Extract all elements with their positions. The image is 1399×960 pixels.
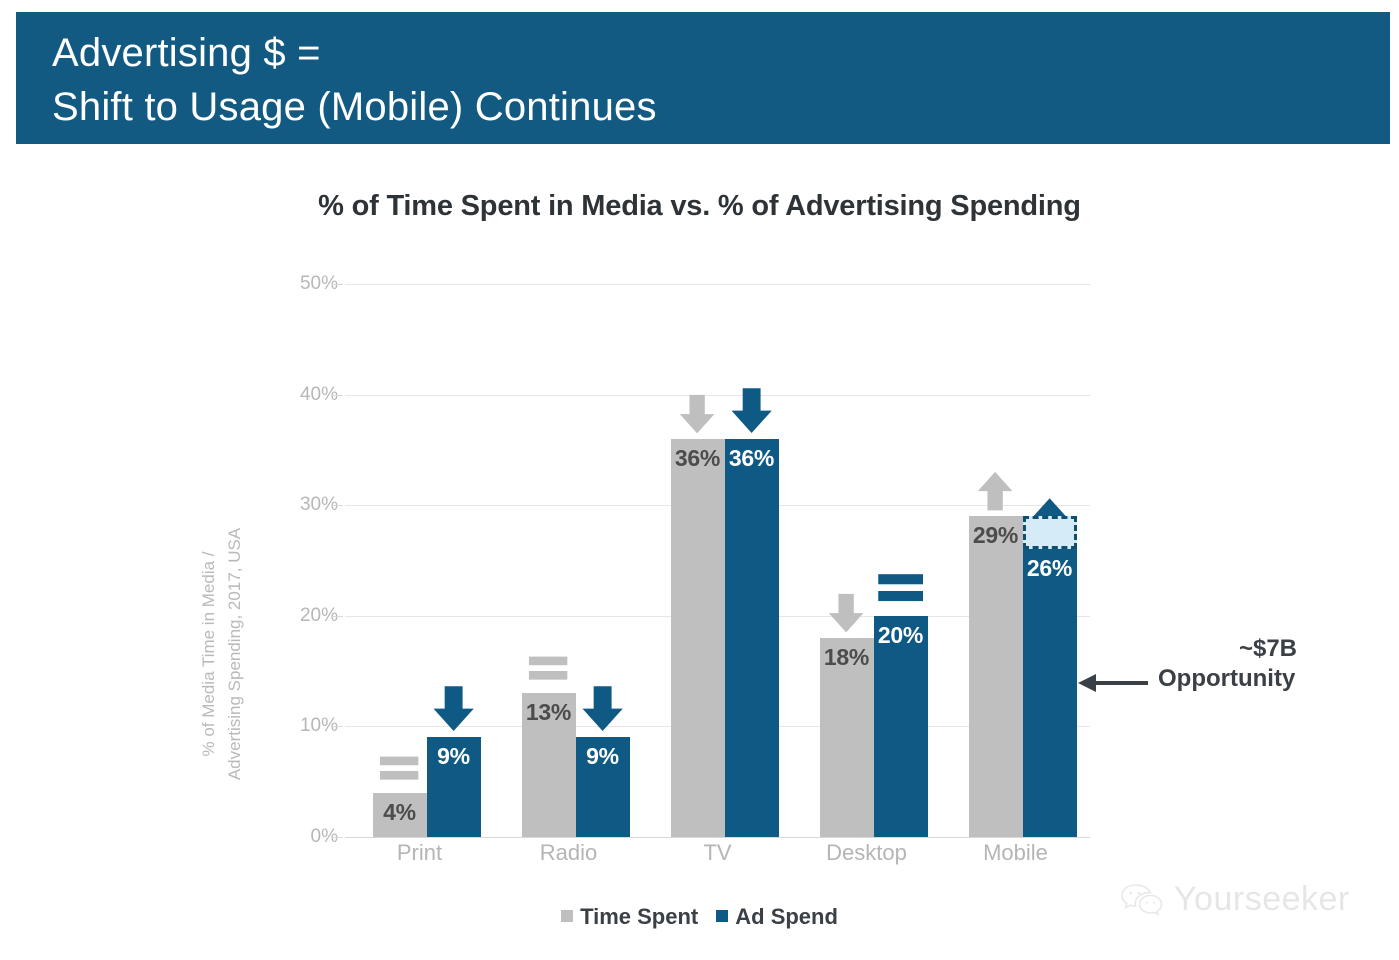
down-arrow-icon-tv-ad-spend <box>727 386 776 435</box>
plot-area: 0%10%20%30%40%50% 4%9%13%9%36%36%18%20%2… <box>345 284 1090 837</box>
wechat-icon <box>1120 882 1164 918</box>
x-axis-label-radio: Radio <box>494 840 643 866</box>
bar-mobile-ad-spend[interactable]: 26% <box>1023 549 1077 837</box>
x-axis-label-desktop: Desktop <box>792 840 941 866</box>
bar-print-time-spent[interactable]: 4% <box>373 793 427 837</box>
watermark: Yourseeker <box>1120 880 1350 919</box>
y-tick-mark-30 <box>331 505 343 506</box>
y-tick-mark-10 <box>331 726 343 727</box>
opportunity-annotation: ~$7B Opportunity <box>1148 634 1388 694</box>
bar-radio-time-spent[interactable]: 13% <box>522 693 576 837</box>
bar-value-label: 29% <box>969 522 1023 549</box>
gridline-50 <box>345 284 1090 285</box>
equals-icon-desktop-ad-spend <box>876 563 925 612</box>
x-axis-label-tv: TV <box>643 840 792 866</box>
opportunity-arrow-icon <box>1078 672 1148 694</box>
header-banner: Advertising $ = Shift to Usage (Mobile) … <box>16 12 1390 144</box>
legend-item-time-spent[interactable]: Time Spent <box>561 904 698 930</box>
y-axis-title: % of Media Time in Media / Advertising S… <box>196 489 256 819</box>
legend-item-ad-spend[interactable]: Ad Spend <box>716 904 838 930</box>
equals-icon-print-time-spent <box>378 747 420 789</box>
header-title-line-1: Advertising $ = <box>52 26 1390 80</box>
bar-desktop-ad-spend[interactable]: 20% <box>874 616 928 837</box>
y-tick-label-50%: 50% <box>228 273 338 295</box>
y-tick-label-10%: 10% <box>228 715 338 737</box>
y-tick-mark-50 <box>331 284 343 285</box>
bar-value-label: 4% <box>373 799 427 826</box>
down-arrow-icon-print-ad-spend <box>429 684 478 733</box>
bar-radio-ad-spend[interactable]: 9% <box>576 737 630 837</box>
legend-label: Time Spent <box>580 904 698 930</box>
bar-value-label: 9% <box>427 743 481 770</box>
up-arrow-icon-mobile-time-spent <box>974 470 1016 512</box>
bar-print-ad-spend[interactable]: 9% <box>427 737 481 837</box>
header-title-line-2: Shift to Usage (Mobile) Continues <box>52 80 1390 134</box>
bar-tv-ad-spend[interactable]: 36% <box>725 439 779 837</box>
legend-swatch-icon <box>716 910 728 922</box>
y-tick-mark-20 <box>331 616 343 617</box>
y-tick-mark-0 <box>331 837 343 838</box>
down-arrow-icon-radio-ad-spend <box>578 684 627 733</box>
bar-value-label: 36% <box>671 445 725 472</box>
opportunity-amount: ~$7B <box>1148 634 1388 664</box>
watermark-text: Yourseeker <box>1174 880 1350 919</box>
bar-value-label: 9% <box>576 743 630 770</box>
y-tick-label-20%: 20% <box>228 605 338 627</box>
y-tick-label-40%: 40% <box>228 384 338 406</box>
x-axis-label-mobile: Mobile <box>941 840 1090 866</box>
bar-value-label: 20% <box>874 622 928 649</box>
down-arrow-icon-tv-time-spent <box>676 393 718 435</box>
x-axis-label-print: Print <box>345 840 494 866</box>
bar-tv-time-spent[interactable]: 36% <box>671 439 725 837</box>
bar-value-label: 36% <box>725 445 779 472</box>
chart-region: % of Time Spent in Media vs. % of Advert… <box>0 144 1399 960</box>
down-arrow-icon-desktop-time-spent <box>825 592 867 634</box>
chart-title: % of Time Spent in Media vs. % of Advert… <box>0 190 1399 223</box>
legend-label: Ad Spend <box>735 904 838 930</box>
opportunity-label: Opportunity <box>1148 664 1388 694</box>
bar-value-label: 18% <box>820 644 874 671</box>
y-tick-mark-40 <box>331 395 343 396</box>
bar-mobile-time-spent[interactable]: 29% <box>969 516 1023 837</box>
bar-desktop-time-spent[interactable]: 18% <box>820 638 874 837</box>
bar-value-label: 13% <box>522 699 576 726</box>
gridline-0 <box>345 837 1090 838</box>
opportunity-box <box>1023 516 1077 549</box>
y-tick-label-30%: 30% <box>228 494 338 516</box>
legend-swatch-icon <box>561 910 573 922</box>
equals-icon-radio-time-spent <box>527 647 569 689</box>
bar-value-label: 26% <box>1023 555 1077 582</box>
y-tick-label-0%: 0% <box>228 826 338 848</box>
